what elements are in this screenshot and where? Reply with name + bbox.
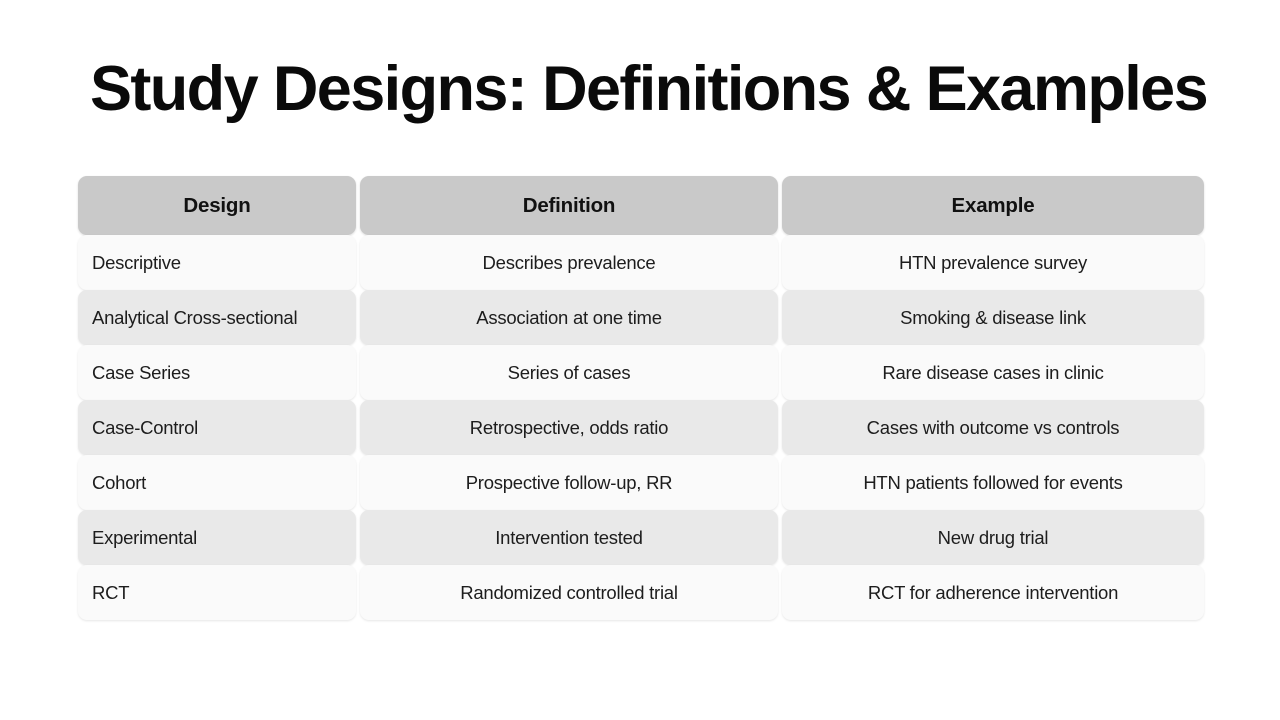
- cell-definition: Series of cases: [360, 345, 778, 400]
- cell-definition: Intervention tested: [360, 510, 778, 565]
- cell-design: Case Series: [78, 345, 356, 400]
- cell-example: New drug trial: [782, 510, 1204, 565]
- table-header-row: Design Definition Example: [78, 176, 1204, 235]
- cell-example: Cases with outcome vs controls: [782, 400, 1204, 455]
- cell-design: Analytical Cross-sectional: [78, 290, 356, 345]
- column-header-design: Design: [78, 176, 356, 235]
- cell-example: HTN prevalence survey: [782, 235, 1204, 290]
- cell-definition: Prospective follow-up, RR: [360, 455, 778, 510]
- slide-canvas: Study Designs: Definitions & Examples De…: [0, 0, 1280, 720]
- table-row: Analytical Cross-sectional Association a…: [78, 290, 1204, 345]
- cell-design: Descriptive: [78, 235, 356, 290]
- table-row: Case-Control Retrospective, odds ratio C…: [78, 400, 1204, 455]
- cell-definition: Association at one time: [360, 290, 778, 345]
- column-header-example: Example: [782, 176, 1204, 235]
- table-row: Cohort Prospective follow-up, RR HTN pat…: [78, 455, 1204, 510]
- cell-definition: Randomized controlled trial: [360, 565, 778, 620]
- cell-example: RCT for adherence intervention: [782, 565, 1204, 620]
- cell-example: Smoking & disease link: [782, 290, 1204, 345]
- cell-example: Rare disease cases in clinic: [782, 345, 1204, 400]
- table-row: Experimental Intervention tested New dru…: [78, 510, 1204, 565]
- cell-design: Case-Control: [78, 400, 356, 455]
- cell-definition: Retrospective, odds ratio: [360, 400, 778, 455]
- cell-design: RCT: [78, 565, 356, 620]
- cell-design: Experimental: [78, 510, 356, 565]
- cell-design: Cohort: [78, 455, 356, 510]
- table-row: Descriptive Describes prevalence HTN pre…: [78, 235, 1204, 290]
- table-row: RCT Randomized controlled trial RCT for …: [78, 565, 1204, 620]
- cell-definition: Describes prevalence: [360, 235, 778, 290]
- page-title: Study Designs: Definitions & Examples: [90, 56, 1190, 122]
- study-designs-table: Design Definition Example Descriptive De…: [78, 176, 1204, 620]
- column-header-definition: Definition: [360, 176, 778, 235]
- table-row: Case Series Series of cases Rare disease…: [78, 345, 1204, 400]
- cell-example: HTN patients followed for events: [782, 455, 1204, 510]
